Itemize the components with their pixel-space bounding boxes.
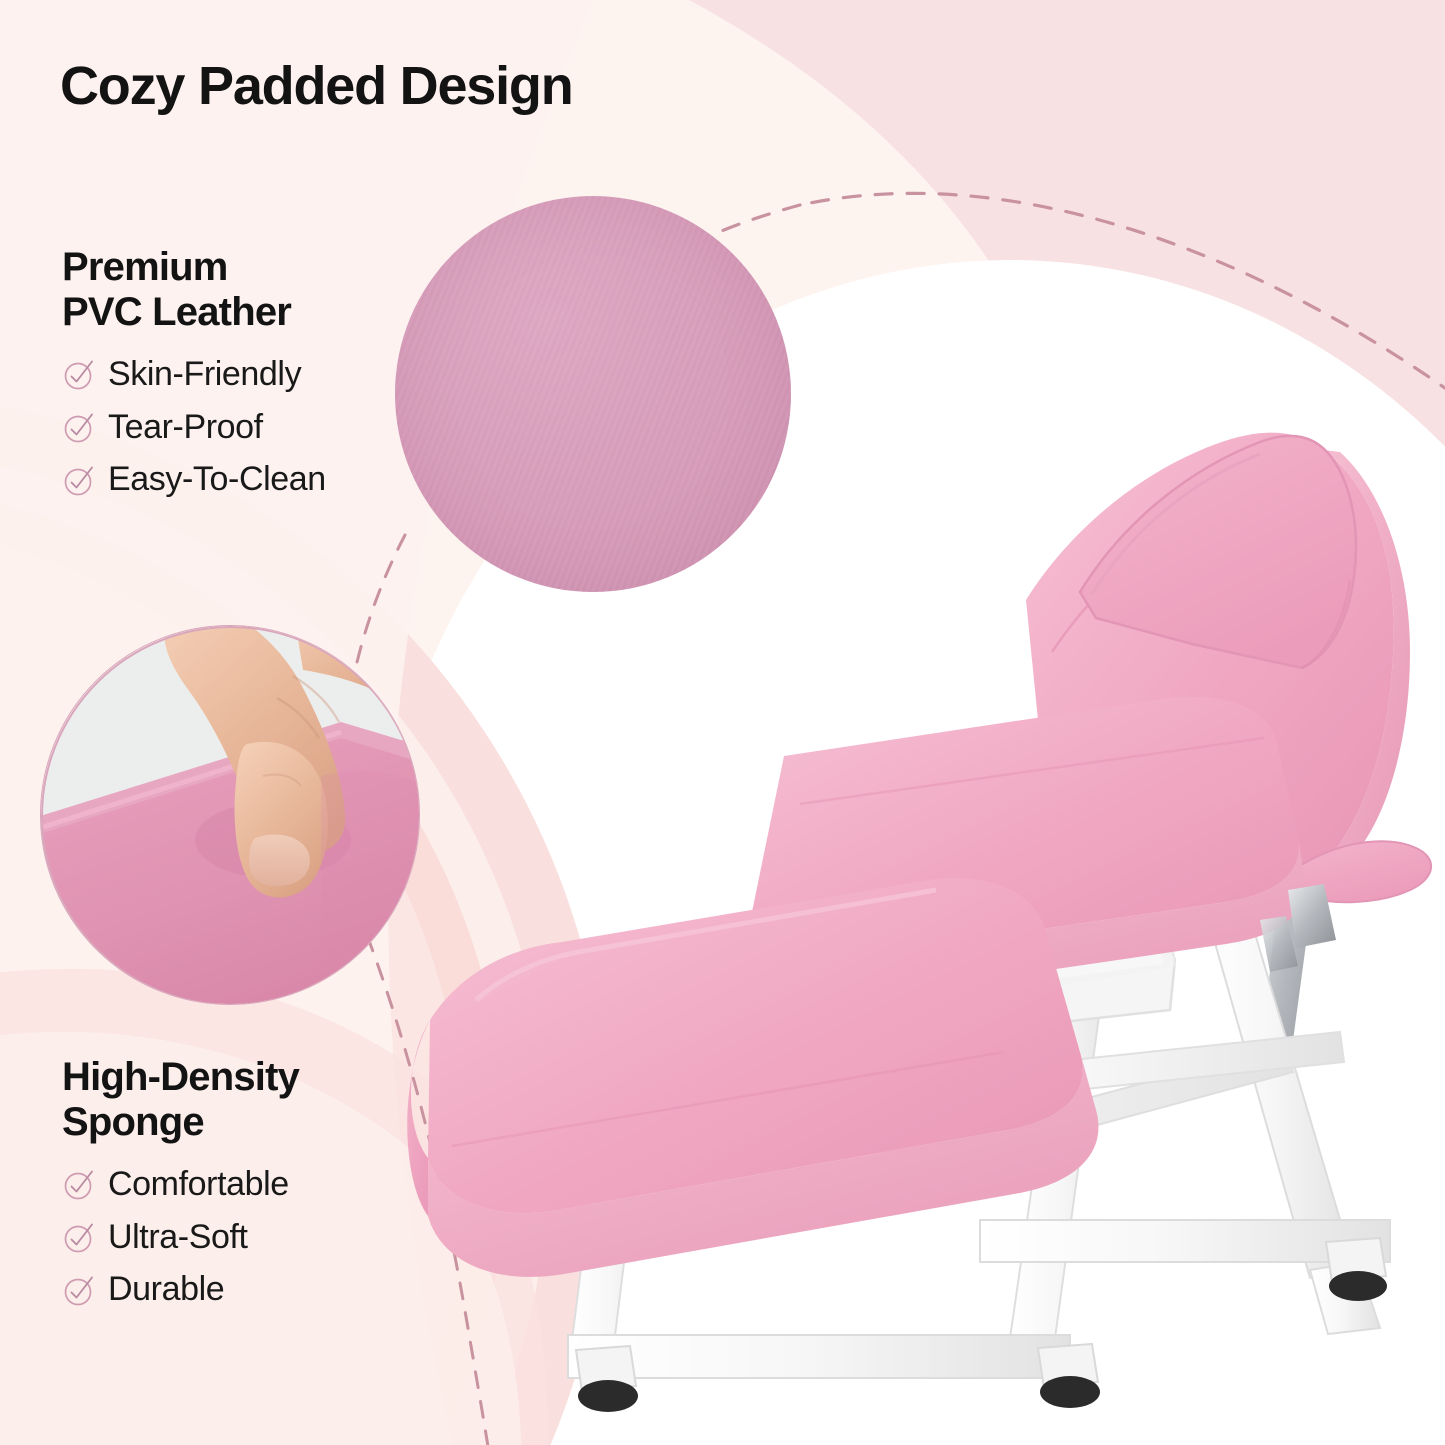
bullet-label: Durable xyxy=(108,1266,224,1313)
feature-block-high-density-sponge: High-Density Sponge Comfortable Ultra-So… xyxy=(62,1055,299,1319)
bullet-item: Durable xyxy=(62,1266,299,1313)
sponge-press-illustration xyxy=(41,626,420,1005)
feature-block-pvc-leather: Premium PVC Leather Skin-Friendly Tear-P… xyxy=(62,245,326,509)
chair-leg-rest-cushion xyxy=(407,878,1098,1277)
bullet-label: Ultra-Soft xyxy=(108,1214,248,1261)
bullet-item: Comfortable xyxy=(62,1161,299,1208)
bullet-label: Tear-Proof xyxy=(108,404,263,451)
feature-title-high-density-sponge: High-Density Sponge xyxy=(62,1055,299,1145)
check-circle-icon xyxy=(62,1273,96,1307)
check-circle-icon xyxy=(62,357,96,391)
check-circle-icon xyxy=(62,463,96,497)
sponge-press-photo xyxy=(40,625,420,1005)
feature-title-pvc-leather: Premium PVC Leather xyxy=(62,245,326,335)
check-circle-icon xyxy=(62,410,96,444)
bullet-item: Ultra-Soft xyxy=(62,1214,299,1261)
bullet-item: Skin-Friendly xyxy=(62,351,326,398)
check-circle-icon xyxy=(62,1167,96,1201)
feature-bullets-pvc-leather: Skin-Friendly Tear-Proof Easy-To-Clean xyxy=(62,351,326,504)
page-title: Cozy Padded Design xyxy=(60,58,573,115)
bullet-label: Skin-Friendly xyxy=(108,351,301,398)
bullet-label: Comfortable xyxy=(108,1161,289,1208)
bullet-item: Easy-To-Clean xyxy=(62,456,326,503)
bullet-label: Easy-To-Clean xyxy=(108,456,326,503)
feature-bullets-high-density-sponge: Comfortable Ultra-Soft Durable xyxy=(62,1161,299,1314)
pvc-leather-closeup-photo xyxy=(395,196,791,592)
bullet-item: Tear-Proof xyxy=(62,404,326,451)
check-circle-icon xyxy=(62,1220,96,1254)
